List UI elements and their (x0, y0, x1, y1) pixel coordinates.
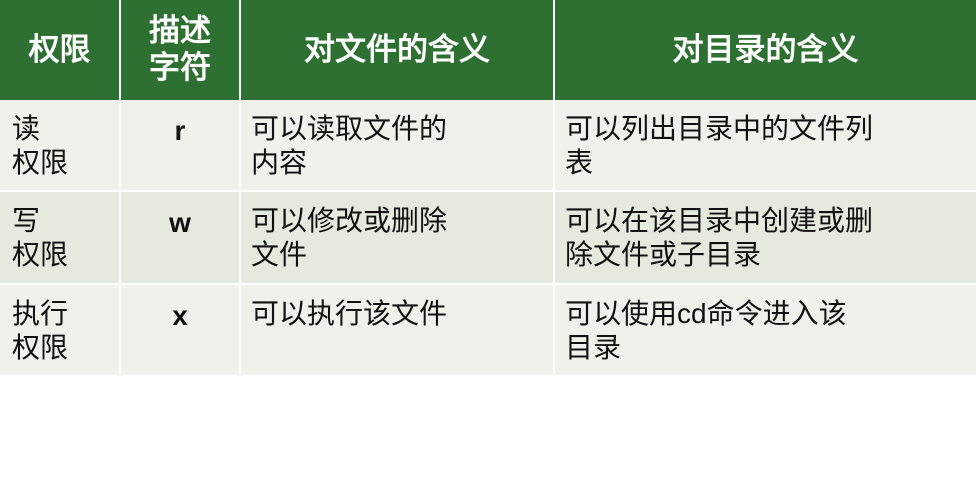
table-row: 执行权限 x 可以执行该文件 可以使用cd命令进入该目录 (0, 284, 976, 375)
cell-file-meaning: 可以修改或删除文件 (240, 191, 554, 283)
cell-permission: 执行权限 (0, 284, 120, 375)
cell-char: w (120, 191, 240, 283)
cell-char: r (120, 100, 240, 191)
header-file-meaning: 对文件的含义 (240, 0, 554, 100)
cell-permission: 读权限 (0, 100, 120, 191)
header-row: 权限 描述字符 对文件的含义 对目录的含义 (0, 0, 976, 100)
table-body: 读权限 r 可以读取文件的内容 可以列出目录中的文件列表 写权限 w 可以修改或… (0, 100, 976, 375)
header-dir-meaning: 对目录的含义 (554, 0, 976, 100)
header-char: 描述字符 (120, 0, 240, 100)
header-permission: 权限 (0, 0, 120, 100)
permissions-table: 权限 描述字符 对文件的含义 对目录的含义 读权限 r 可以读取文件的内容 可以… (0, 0, 976, 375)
cell-permission: 写权限 (0, 191, 120, 283)
cell-char: x (120, 284, 240, 375)
cell-dir-meaning: 可以使用cd命令进入该目录 (554, 284, 976, 375)
cell-dir-meaning: 可以在该目录中创建或删除文件或子目录 (554, 191, 976, 283)
cell-dir-meaning: 可以列出目录中的文件列表 (554, 100, 976, 191)
table-row: 写权限 w 可以修改或删除文件 可以在该目录中创建或删除文件或子目录 (0, 191, 976, 283)
table-header: 权限 描述字符 对文件的含义 对目录的含义 (0, 0, 976, 100)
cell-file-meaning: 可以读取文件的内容 (240, 100, 554, 191)
cell-file-meaning: 可以执行该文件 (240, 284, 554, 375)
table-row: 读权限 r 可以读取文件的内容 可以列出目录中的文件列表 (0, 100, 976, 191)
